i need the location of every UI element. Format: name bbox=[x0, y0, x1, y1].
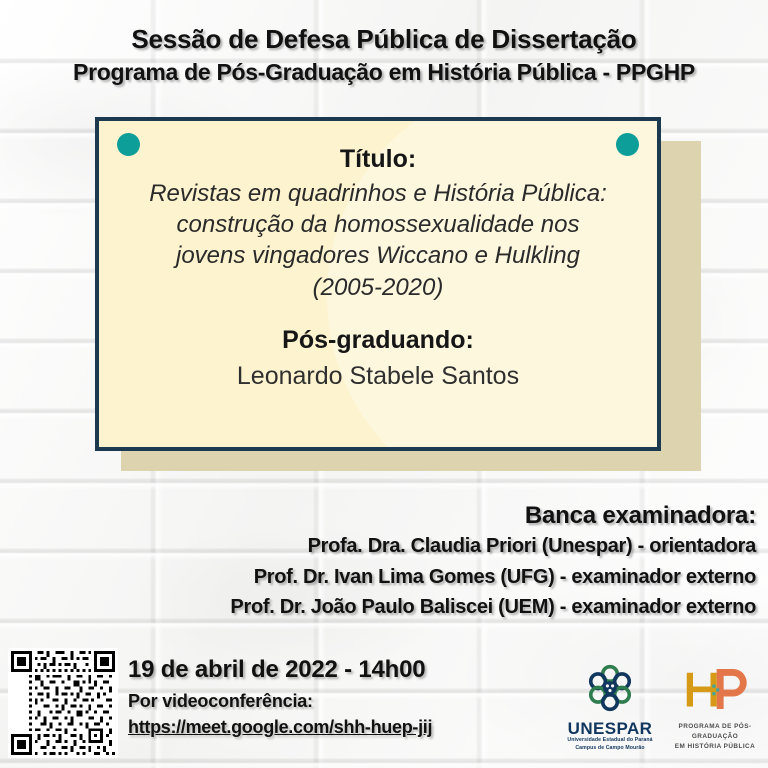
poster-root: Sessão de Defesa Pública de Dissertação … bbox=[0, 0, 768, 768]
unespar-logo: UNESPAR Universidade Estadual do Paraná … bbox=[558, 662, 662, 752]
ppghp-subtitle-2: EM HISTÓRIA PÚBLICA bbox=[664, 742, 766, 752]
student-label: Pós-graduando: bbox=[99, 325, 657, 355]
student-name: Leonardo Stabele Santos bbox=[99, 361, 657, 391]
thesis-title: Revistas em quadrinhos e História Públic… bbox=[99, 178, 657, 303]
title-label: Título: bbox=[99, 144, 657, 174]
thesis-title-line-4: (2005-2020) bbox=[127, 272, 629, 303]
defense-datetime: 19 de abril de 2022 - 14h00 bbox=[128, 655, 432, 684]
ppghp-logo: PROGRAMA DE PÓS-GRADUAÇÃO EM HISTÓRIA PÚ… bbox=[664, 664, 766, 752]
unespar-flower-icon bbox=[584, 662, 636, 714]
card-content: Título: Revistas em quadrinhos e Históri… bbox=[99, 121, 657, 391]
examining-board-member: Profa. Dra. Claudia Priori (Unespar) - o… bbox=[0, 531, 756, 561]
examining-board-title: Banca examinadora: bbox=[0, 500, 756, 531]
footer-details: 19 de abril de 2022 - 14h00 Por videocon… bbox=[128, 655, 432, 738]
unespar-subtitle-2: Campus de Campo Mourão bbox=[558, 745, 662, 753]
unespar-wordmark: UNESPAR bbox=[558, 720, 662, 737]
hp-monogram-icon bbox=[678, 664, 753, 714]
thesis-card: Título: Revistas em quadrinhos e Históri… bbox=[95, 117, 661, 451]
event-title: Sessão de Defesa Pública de Dissertação bbox=[0, 24, 768, 55]
unespar-subtitle-1: Universidade Estadual do Paraná bbox=[558, 737, 662, 745]
qr-code-icon[interactable] bbox=[8, 648, 118, 758]
examining-board-member: Prof. Dr. Ivan Lima Gomes (UFG) - examin… bbox=[0, 562, 756, 592]
thesis-title-line-3: jovens vingadores Wiccano e Hulkling bbox=[127, 240, 629, 271]
ppghp-subtitle-1: PROGRAMA DE PÓS-GRADUAÇÃO bbox=[664, 722, 766, 742]
thesis-title-line-1: Revistas em quadrinhos e História Públic… bbox=[127, 178, 629, 209]
examining-board-section: Banca examinadora: Profa. Dra. Claudia P… bbox=[0, 500, 756, 622]
poster-header: Sessão de Defesa Pública de Dissertação … bbox=[0, 24, 768, 86]
examining-board-member: Prof. Dr. João Paulo Baliscei (UEM) - ex… bbox=[0, 592, 756, 622]
thesis-title-line-2: construção da homossexualidade nos bbox=[127, 209, 629, 240]
conference-mode-label: Por videoconferência: bbox=[128, 690, 432, 713]
meet-link[interactable]: https://meet.google.com/shh-huep-jij bbox=[128, 716, 432, 739]
program-title: Programa de Pós-Graduação em História Pú… bbox=[0, 59, 768, 86]
